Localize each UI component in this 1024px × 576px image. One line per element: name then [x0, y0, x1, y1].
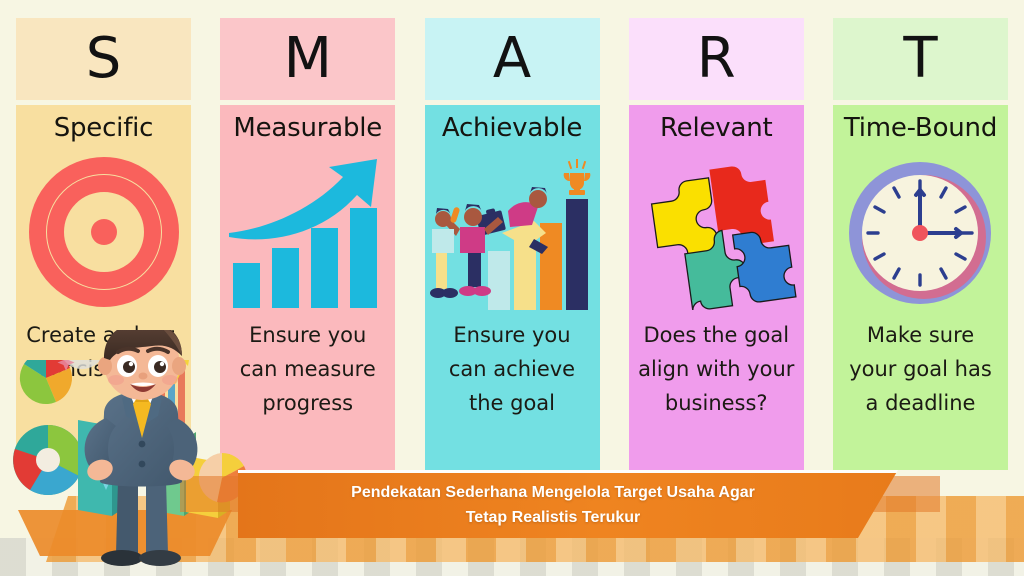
wall-clock-icon: [838, 155, 1003, 310]
letter-t: T: [903, 31, 937, 87]
letter-s: S: [86, 31, 122, 87]
title-banner: Pendekatan Sederhana Mengelola Target Us…: [238, 470, 898, 538]
letter-box-r: R: [629, 18, 804, 100]
column-time-bound: T Time-Bound: [833, 0, 1008, 470]
letter-a: A: [493, 31, 531, 87]
jigsaw-puzzle-pieces-icon: [634, 155, 799, 310]
word-time-bound: Time-Bound: [844, 114, 997, 143]
letter-box-s: S: [16, 18, 191, 100]
banner-text: Pendekatan Sederhana Mengelola Target Us…: [351, 481, 755, 530]
body-achievable: Achievable: [425, 105, 600, 470]
people-climbing-to-trophy-icon: [430, 155, 595, 310]
businessman-mascot: [26, 330, 256, 566]
word-measurable: Measurable: [233, 114, 382, 143]
banner-line-1: Pendekatan Sederhana Mengelola Target Us…: [351, 481, 755, 505]
infographic-canvas: S Specific Create a clear, concise goal …: [0, 0, 1024, 576]
letter-box-t: T: [833, 18, 1008, 100]
word-specific: Specific: [54, 114, 154, 143]
desc-achievable: Ensure you can achieve the goal: [425, 318, 600, 420]
body-relevant: Relevant: [629, 105, 804, 470]
letter-box-a: A: [425, 18, 600, 100]
banner-line-2: Tetap Realistis Terukur: [351, 506, 755, 530]
column-relevant: R Relevant: [629, 0, 804, 470]
letter-m: M: [284, 31, 332, 87]
word-achievable: Achievable: [442, 114, 582, 143]
desc-time-bound: Make sure your goal has a deadline: [833, 318, 1008, 420]
bullseye-target-icon: [21, 155, 186, 310]
letter-box-m: M: [220, 18, 395, 100]
growth-bar-chart-arrow-icon: [225, 155, 390, 310]
desc-relevant: Does the goal align with your business?: [629, 318, 804, 420]
column-achievable: A Achievable: [425, 0, 600, 470]
body-time-bound: Time-Bound: [833, 105, 1008, 470]
word-relevant: Relevant: [660, 114, 773, 143]
letter-r: R: [697, 31, 736, 87]
